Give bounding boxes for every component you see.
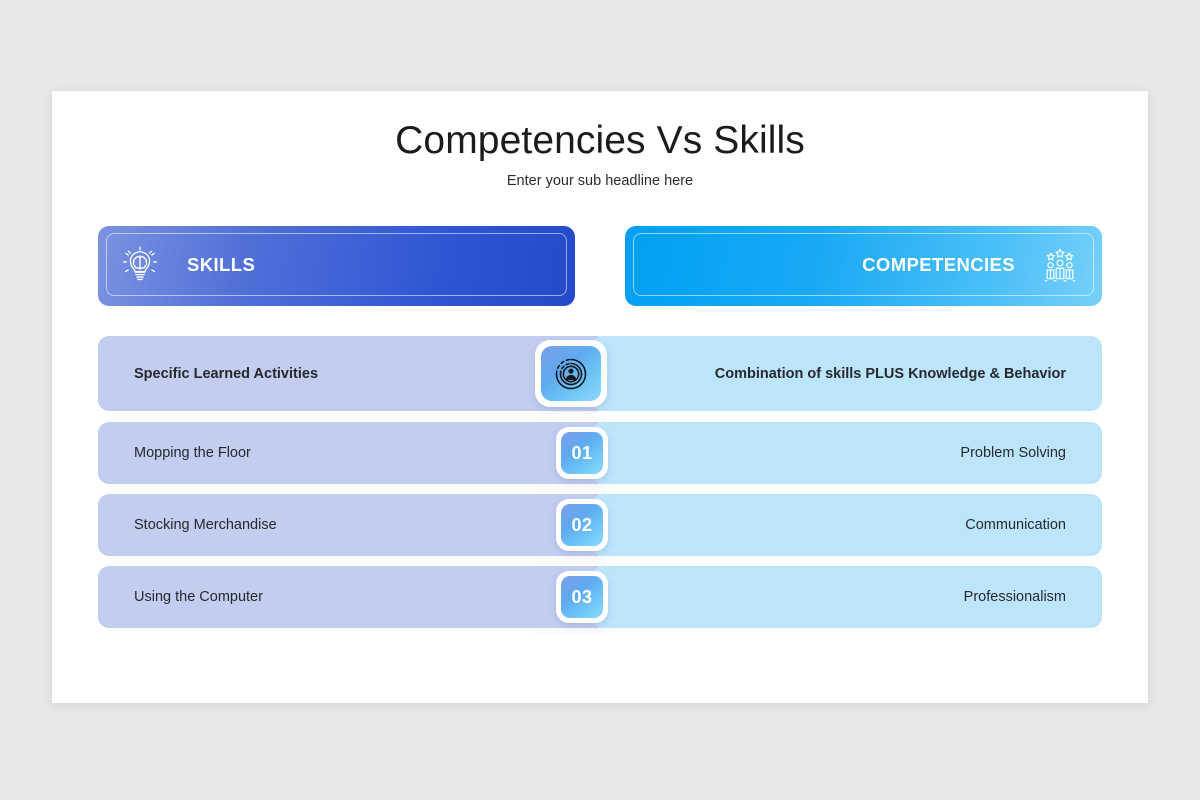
table-row[interactable]: Problem Solving — [592, 422, 1102, 484]
skills-header-label: SKILLS — [163, 254, 566, 276]
center-badge-icon[interactable] — [535, 340, 607, 407]
table-row[interactable]: Communication — [592, 494, 1102, 556]
slide-canvas: Competencies Vs Skills Enter your sub he… — [52, 91, 1148, 703]
step-number-label: 03 — [571, 587, 592, 608]
center-badge-fill: 03 — [561, 576, 603, 618]
competency-item-label: Communication — [965, 517, 1102, 533]
skill-item-label: Mopping the Floor — [98, 445, 251, 461]
table-row[interactable]: Combination of skills PLUS Knowledge & B… — [592, 336, 1102, 411]
competencies-header-bar[interactable]: COMPETENCIES — [625, 226, 1102, 306]
person-target-icon — [551, 354, 591, 394]
step-number-badge[interactable]: 03 — [556, 571, 608, 623]
skill-item-label: Stocking Merchandise — [98, 517, 277, 533]
competency-item-label: Combination of skills PLUS Knowledge & B… — [715, 366, 1102, 382]
skills-header-bar[interactable]: SKILLS — [98, 226, 575, 306]
center-badge-fill: 02 — [561, 504, 603, 546]
step-number-badge[interactable]: 01 — [556, 427, 608, 479]
competencies-header-label: COMPETENCIES — [634, 254, 1037, 276]
table-row[interactable]: Stocking Merchandise — [98, 494, 608, 556]
competency-item-label: Problem Solving — [960, 445, 1102, 461]
page-title: Competencies Vs Skills — [52, 119, 1148, 163]
competency-item-label: Professionalism — [964, 589, 1102, 605]
table-row[interactable]: Using the Computer — [98, 566, 608, 628]
people-stars-icon — [1037, 242, 1083, 288]
step-number-badge[interactable]: 02 — [556, 499, 608, 551]
table-row[interactable]: Professionalism — [592, 566, 1102, 628]
table-row[interactable]: Mopping the Floor — [98, 422, 608, 484]
lightbulb-brain-icon — [117, 242, 163, 288]
center-badge-fill: 01 — [561, 432, 603, 474]
skills-header-inner: SKILLS — [106, 233, 567, 296]
step-number-label: 01 — [571, 443, 592, 464]
center-badge-fill — [541, 346, 601, 401]
step-number-label: 02 — [571, 515, 592, 536]
page-subtitle: Enter your sub headline here — [52, 173, 1148, 189]
skill-item-label: Specific Learned Activities — [98, 366, 318, 382]
competencies-header-inner: COMPETENCIES — [633, 233, 1094, 296]
skill-item-label: Using the Computer — [98, 589, 263, 605]
table-row[interactable]: Specific Learned Activities — [98, 336, 608, 411]
